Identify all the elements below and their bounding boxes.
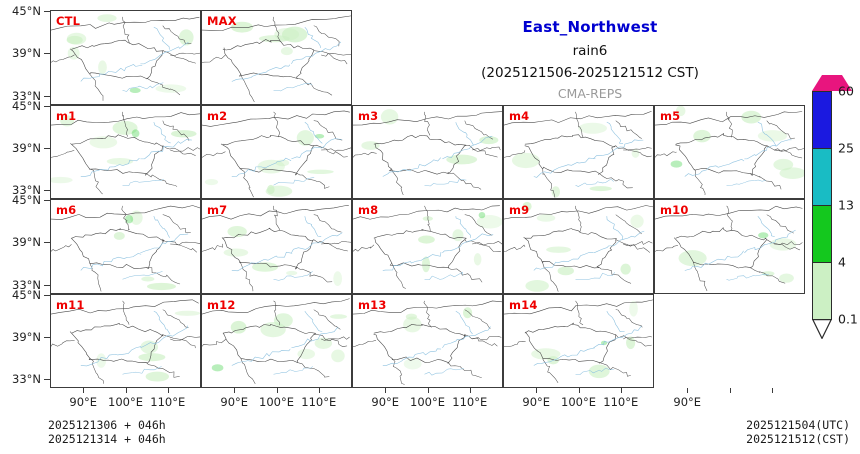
longitude-label: 110°E xyxy=(452,395,487,409)
panel-label-m9: m9 xyxy=(509,203,529,217)
map-panel-m12[interactable]: m12 xyxy=(201,294,352,389)
longitude-tick xyxy=(470,388,471,393)
longitude-tick xyxy=(126,388,127,393)
map-panel-m9[interactable]: m9 xyxy=(503,199,654,294)
footer-right-line2: 2025121512(CST) xyxy=(746,432,850,446)
longitude-label: 100°E xyxy=(561,395,596,409)
map-panel-m7[interactable]: m7 xyxy=(201,199,352,294)
longitude-tick xyxy=(83,388,84,393)
panel-grid: CTLMAXm1m2m3m4m5m6m7m8m9m10m11m12m13m14 xyxy=(50,10,805,388)
panel-label-m7: m7 xyxy=(207,203,227,217)
colorbar-segment xyxy=(812,262,832,319)
latitude-label: 39°N xyxy=(12,330,41,344)
panel-label-m14: m14 xyxy=(509,298,538,312)
longitude-label: 90°E xyxy=(220,395,248,409)
longitude-tick xyxy=(277,388,278,393)
longitude-label: 100°E xyxy=(410,395,445,409)
colorbar-divider xyxy=(812,205,832,206)
longitude-label: 90°E xyxy=(371,395,399,409)
latitude-label: 45°N xyxy=(12,288,41,302)
longitude-tick xyxy=(319,388,320,393)
latitude-tick xyxy=(44,285,50,286)
panel-label-m6: m6 xyxy=(56,203,76,217)
longitude-tick xyxy=(428,388,429,393)
colorbar-segment xyxy=(812,205,832,262)
footer-right: 2025121504(UTC) 2025121512(CST) xyxy=(746,418,850,446)
panel-label-m11: m11 xyxy=(56,298,85,312)
footer-right-line1: 2025121504(UTC) xyxy=(746,418,850,432)
latitude-tick xyxy=(44,200,50,201)
footer-left: 2025121306 + 046h 2025121314 + 046h xyxy=(48,418,166,446)
longitude-label: 90°E xyxy=(673,395,701,409)
latitude-label: 33°N xyxy=(12,372,41,386)
map-panel-m14[interactable]: m14 xyxy=(503,294,654,389)
forecast-figure: East_Northwest rain6 (2025121506-2025121… xyxy=(0,0,860,454)
panel-label-m8: m8 xyxy=(358,203,378,217)
latitude-tick xyxy=(44,190,50,191)
longitude-label: 100°E xyxy=(108,395,143,409)
longitude-tick xyxy=(168,388,169,393)
colorbar: 60251340.1 xyxy=(812,75,832,335)
colorbar-label-4: 4 xyxy=(838,255,846,270)
colorbar-label-25: 25 xyxy=(838,141,854,156)
map-panel-m3[interactable]: m3 xyxy=(352,105,503,200)
map-panel-m10[interactable]: m10 xyxy=(654,199,805,294)
longitude-tick xyxy=(772,388,773,393)
colorbar-label-13: 13 xyxy=(838,198,854,213)
latitude-axis: 45°N39°N33°N45°N39°N33°N45°N39°N33°N45°N… xyxy=(0,0,50,398)
longitude-tick xyxy=(621,388,622,393)
latitude-tick xyxy=(44,337,50,338)
panel-label-m12: m12 xyxy=(207,298,236,312)
colorbar-segment xyxy=(812,148,832,205)
panel-label-m3: m3 xyxy=(358,109,378,123)
latitude-tick xyxy=(44,53,50,54)
longitude-label: 110°E xyxy=(150,395,185,409)
longitude-tick xyxy=(730,388,731,393)
longitude-tick xyxy=(579,388,580,393)
longitude-label: 90°E xyxy=(522,395,550,409)
longitude-label: 90°E xyxy=(69,395,97,409)
panel-label-max: MAX xyxy=(207,14,237,28)
longitude-axis: 90°E100°E110°E90°E100°E110°E90°E100°E110… xyxy=(50,388,810,414)
latitude-label: 39°N xyxy=(12,141,41,155)
latitude-tick xyxy=(44,96,50,97)
latitude-label: 39°N xyxy=(12,46,41,60)
colorbar-under-arrow xyxy=(812,319,832,339)
longitude-label: 110°E xyxy=(301,395,336,409)
map-panel-m13[interactable]: m13 xyxy=(352,294,503,389)
panel-label-m2: m2 xyxy=(207,109,227,123)
longitude-tick xyxy=(687,388,688,393)
map-panel-m2[interactable]: m2 xyxy=(201,105,352,200)
latitude-tick xyxy=(44,106,50,107)
panel-label-m1: m1 xyxy=(56,109,76,123)
longitude-tick xyxy=(385,388,386,393)
colorbar-label-60: 60 xyxy=(838,84,854,99)
longitude-tick xyxy=(536,388,537,393)
panel-label-m10: m10 xyxy=(660,203,689,217)
footer-left-line1: 2025121306 + 046h xyxy=(48,418,166,432)
latitude-label: 45°N xyxy=(12,4,41,18)
footer-left-line2: 2025121314 + 046h xyxy=(48,432,166,446)
map-panel-m4[interactable]: m4 xyxy=(503,105,654,200)
panel-label-m5: m5 xyxy=(660,109,680,123)
longitude-label: 110°E xyxy=(603,395,638,409)
latitude-tick xyxy=(44,379,50,380)
latitude-label: 39°N xyxy=(12,235,41,249)
map-panel-m5[interactable]: m5 xyxy=(654,105,805,200)
longitude-label: 100°E xyxy=(259,395,294,409)
latitude-tick xyxy=(44,11,50,12)
panel-label-ctl: CTL xyxy=(56,14,80,28)
panel-label-m13: m13 xyxy=(358,298,387,312)
latitude-label: 45°N xyxy=(12,193,41,207)
colorbar-divider xyxy=(812,262,832,263)
latitude-tick xyxy=(44,295,50,296)
map-panel-m8[interactable]: m8 xyxy=(352,199,503,294)
latitude-tick xyxy=(44,242,50,243)
map-panel-max[interactable]: MAX xyxy=(201,10,352,105)
panel-label-m4: m4 xyxy=(509,109,529,123)
map-panel-m11[interactable]: m11 xyxy=(50,294,201,389)
map-panel-m1[interactable]: m1 xyxy=(50,105,201,200)
colorbar-divider xyxy=(812,91,832,92)
map-panel-ctl[interactable]: CTL xyxy=(50,10,201,105)
latitude-label: 45°N xyxy=(12,99,41,113)
colorbar-segment xyxy=(812,91,832,148)
colorbar-label-0-1: 0.1 xyxy=(838,312,858,327)
latitude-tick xyxy=(44,148,50,149)
colorbar-divider xyxy=(812,148,832,149)
longitude-tick xyxy=(234,388,235,393)
map-panel-m6[interactable]: m6 xyxy=(50,199,201,294)
